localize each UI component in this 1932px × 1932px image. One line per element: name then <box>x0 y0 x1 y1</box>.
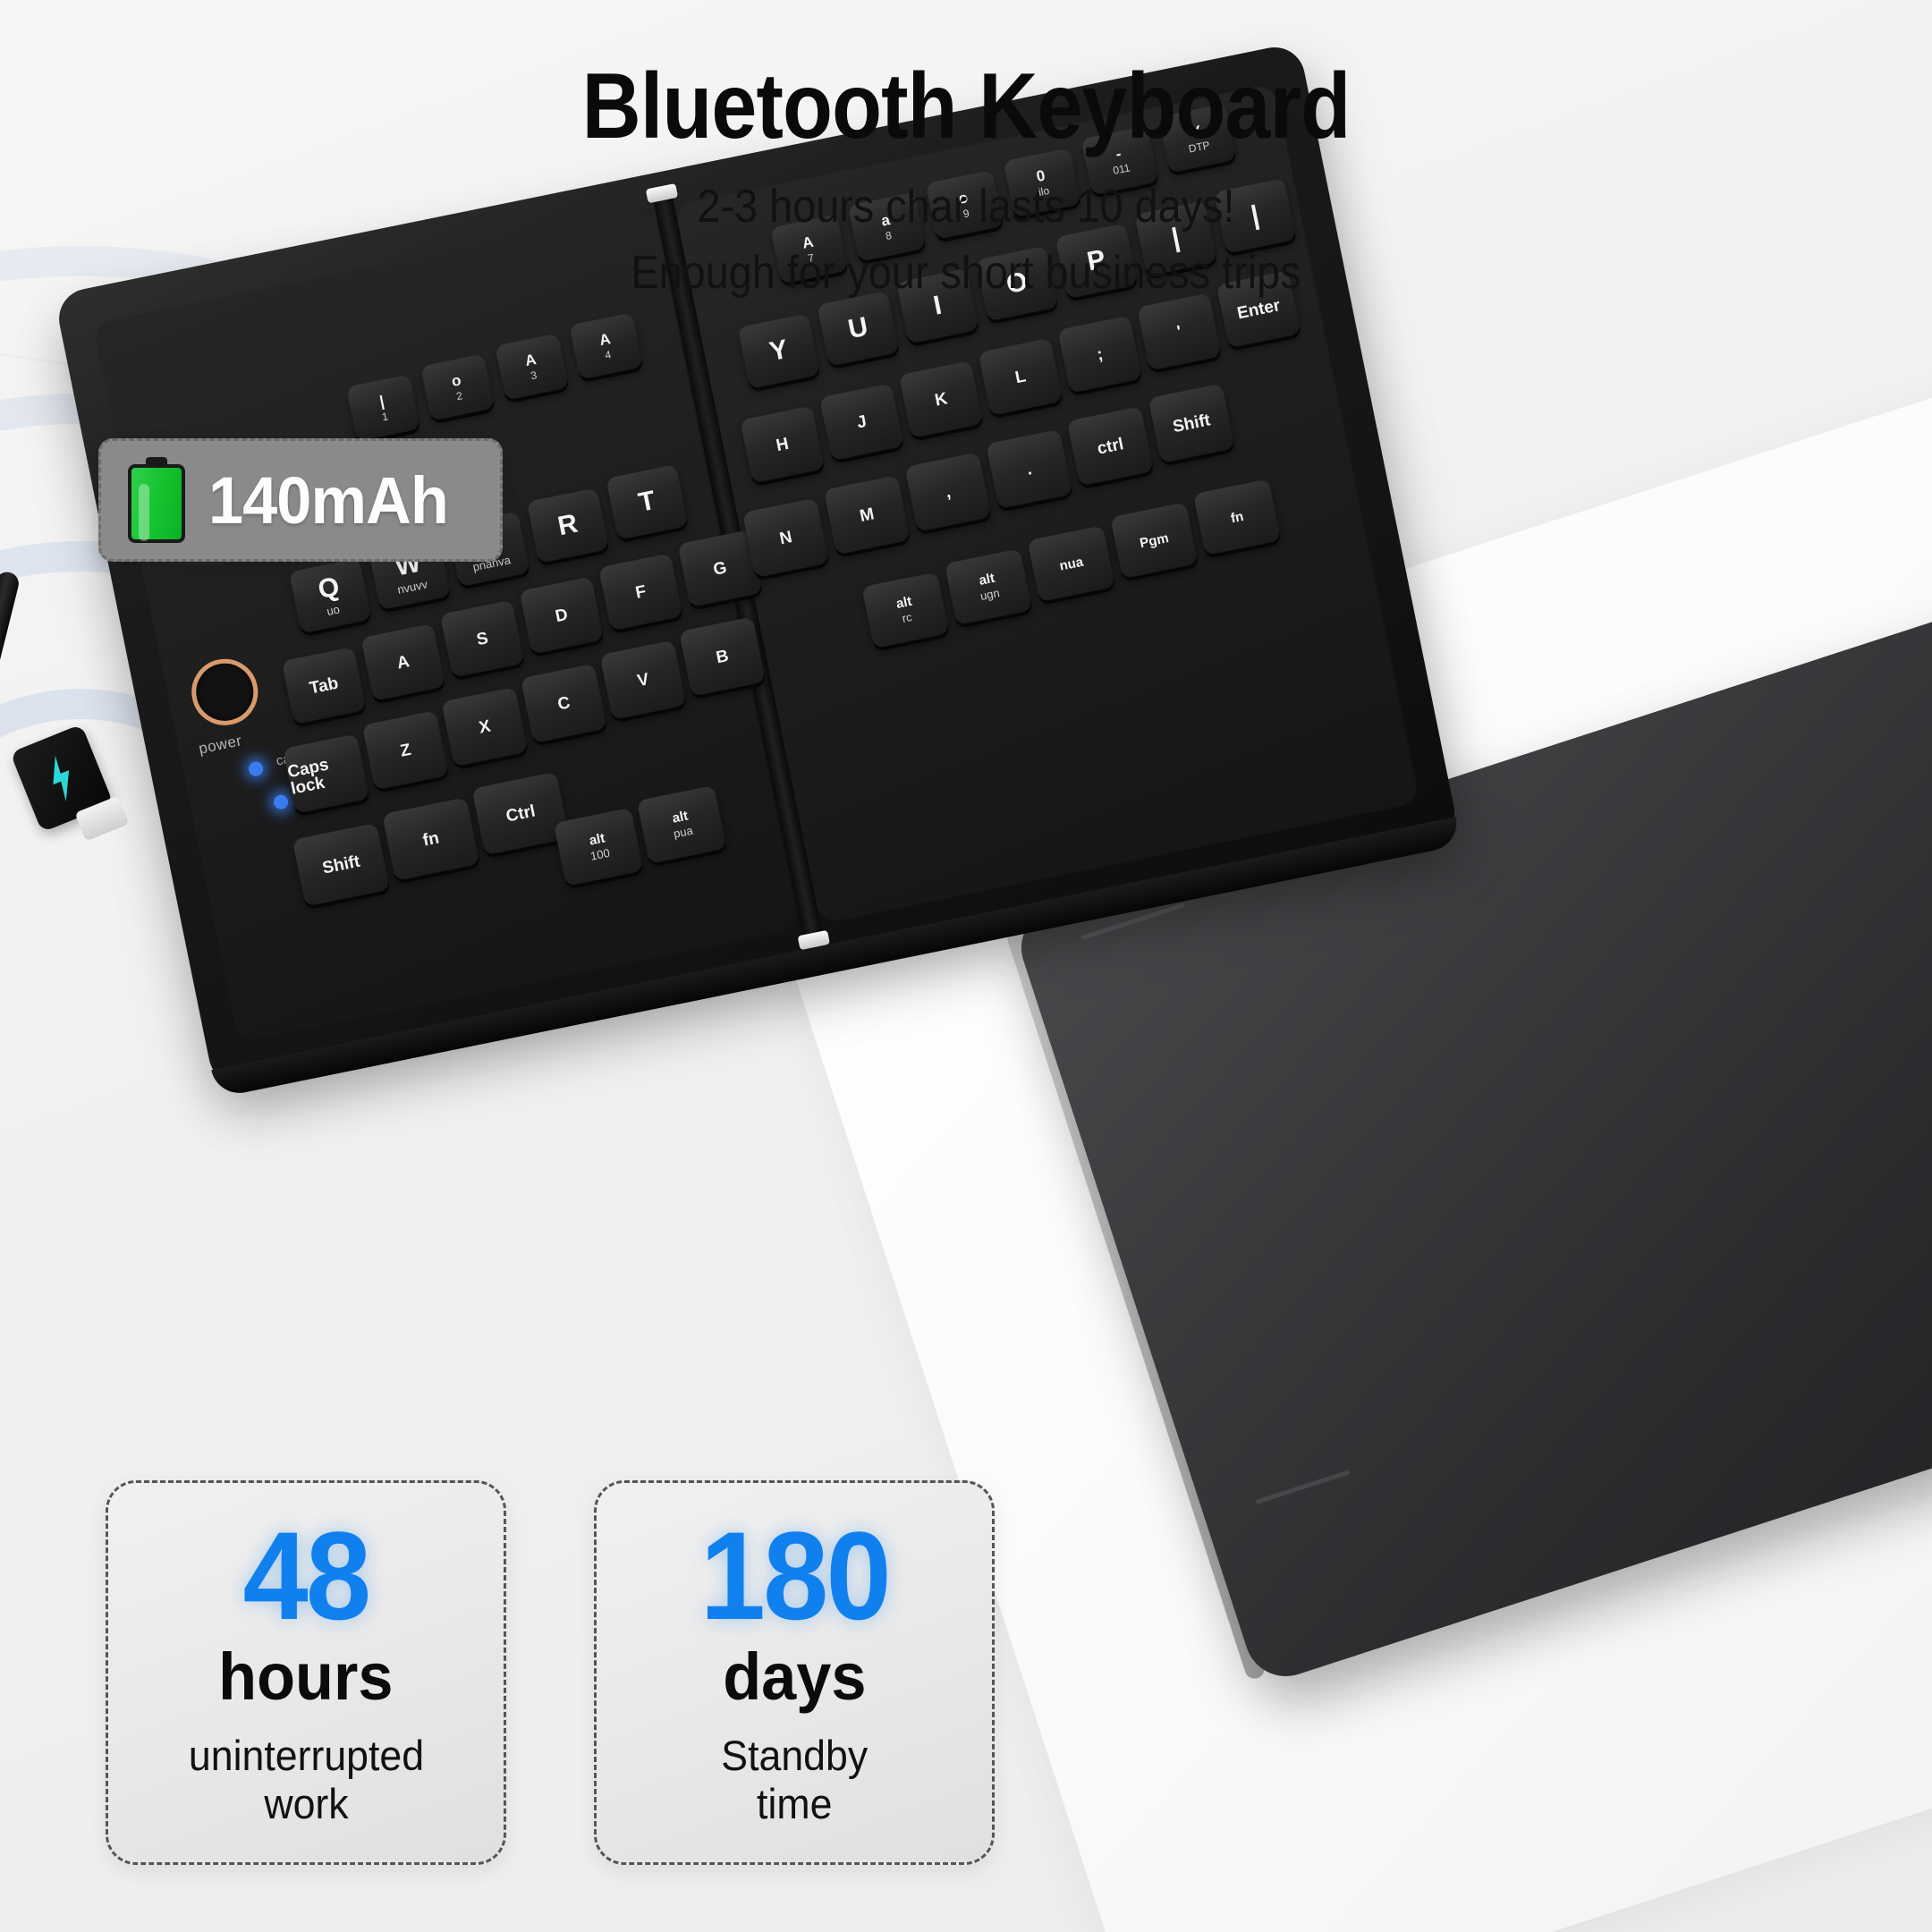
key-label: Y <box>767 336 791 366</box>
header-block: Bluetooth Keyboard 2-3 hours char lasts … <box>0 54 1932 300</box>
stat-number: 180 <box>699 1516 888 1636</box>
key-sublabel: ugn <box>979 587 1001 603</box>
key-label: X <box>478 717 492 736</box>
key-label: Enter <box>1235 297 1281 322</box>
key-label: o <box>450 372 462 389</box>
key-label: alt <box>588 832 606 848</box>
stat-cards: 48 hours uninterrupted work 180 days Sta… <box>106 1480 995 1865</box>
key-label: V <box>636 671 650 690</box>
key-label: fn <box>421 829 440 849</box>
key-label: ' <box>1175 323 1182 341</box>
key-sublabel: pua <box>673 825 694 841</box>
key-sublabel: 3 <box>530 369 538 382</box>
key-label: Q <box>316 573 342 604</box>
key-sublabel: 1 <box>381 411 389 423</box>
key-label: C <box>556 694 572 713</box>
page-title: Bluetooth Keyboard <box>116 54 1817 160</box>
key-label: G <box>712 559 728 579</box>
battery-capacity-badge: 140mAh <box>98 438 503 562</box>
key-label: alt <box>895 595 913 611</box>
stat-card-days: 180 days Standby time <box>594 1480 995 1865</box>
key-sublabel: 4 <box>604 349 612 361</box>
key-label: A <box>597 331 611 348</box>
key-sublabel: uo <box>326 603 341 617</box>
key-label: Ctrl <box>504 802 537 825</box>
product-image-stage: Bluetooth Keyboard 2-3 hours char lasts … <box>0 0 1932 1932</box>
subtitle-line-1: 2-3 hours char lasts 10 days! <box>97 180 1835 233</box>
key-label: M <box>859 505 876 525</box>
key-sublabel: 2 <box>455 390 463 402</box>
usb-c-charging-cable <box>0 572 224 868</box>
key-label: Caps lock <box>286 750 367 798</box>
key-label: D <box>554 606 569 624</box>
lightning-bolt-icon <box>38 751 84 806</box>
key-sublabel: 100 <box>589 847 611 863</box>
subtitle-line-2: Enough for your short business trips <box>97 246 1835 300</box>
key-label: T <box>636 487 657 517</box>
battery-capacity-label: 140mAh <box>208 462 448 538</box>
stat-desc-line-1: uninterrupted <box>188 1732 423 1779</box>
stat-description: Standby time <box>721 1732 868 1829</box>
stat-number: 48 <box>243 1516 369 1636</box>
key-label: H <box>775 435 790 453</box>
key-label: A <box>395 653 411 672</box>
battery-full-icon <box>128 457 185 543</box>
key-label: J <box>855 412 868 431</box>
key-sublabel: rc <box>901 611 912 625</box>
key-label: Tab <box>308 674 340 697</box>
key-label: L <box>1013 368 1027 386</box>
key-label: Shift <box>321 852 361 877</box>
key-label: A <box>523 352 537 369</box>
key-label: U <box>846 314 870 344</box>
key-label: K <box>934 390 949 409</box>
key-label: nua <box>1058 555 1084 572</box>
stat-desc-line-1: Standby <box>721 1732 868 1779</box>
stat-unit: hours <box>218 1642 393 1712</box>
stat-card-hours: 48 hours uninterrupted work <box>106 1480 506 1865</box>
key-label: Z <box>399 741 412 759</box>
stat-desc-line-2: time <box>757 1780 832 1827</box>
stat-desc-line-2: work <box>264 1780 348 1827</box>
key-label: , <box>944 483 952 501</box>
stat-description: uninterrupted work <box>188 1732 423 1829</box>
key-label: ; <box>1096 345 1105 363</box>
stat-unit: days <box>723 1642 866 1712</box>
key-label: S <box>475 630 489 648</box>
key-label: Pgm <box>1139 531 1170 550</box>
key-label: F <box>634 582 648 601</box>
key-label: R <box>555 511 580 541</box>
key-label: N <box>778 529 793 547</box>
key-label: fn <box>1230 509 1245 525</box>
key-label: alt <box>978 572 996 588</box>
key-label: . <box>1025 461 1033 479</box>
key-label: ctrl <box>1096 436 1125 458</box>
key-label: B <box>715 647 730 665</box>
key-label: Shift <box>1172 411 1212 436</box>
key-label: | <box>378 394 386 410</box>
key-label: alt <box>671 809 689 826</box>
